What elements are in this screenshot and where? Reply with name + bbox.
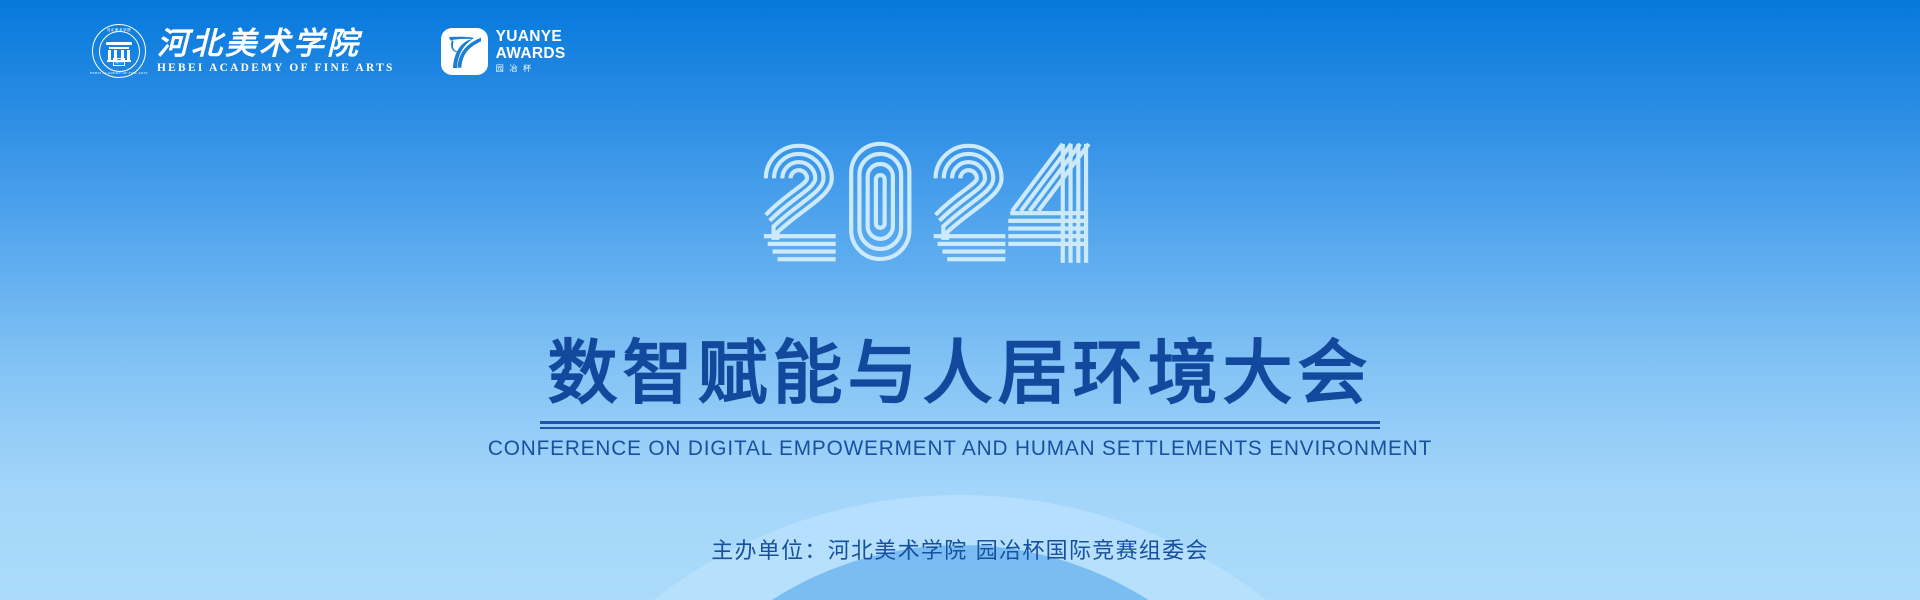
logo-yuanye-awards[interactable]: YUANYE AWARDS 园冶杯 [441,28,566,75]
seal-plate-text: 美术 [113,58,125,66]
yuanye-line2: AWARDS [496,46,566,63]
logo-row: 河北美术学院 美术 HEBEI ACADEMY OF FINE ARTS 河北美… [92,24,566,78]
yuanye-mark-icon [441,28,488,75]
organizer-text: 主办单位：河北美术学院 园冶杯国际竞赛组委会 [0,533,1920,565]
yuanye-line1: YUANYE [496,29,566,46]
yuanye-wordmark: YUANYE AWARDS 园冶杯 [496,29,566,72]
page-subtitle: CONFERENCE ON DIGITAL EMPOWERMENT AND HU… [34,436,1887,461]
year-2024-graphic [760,138,1160,273]
page-title: 数智赋能与人居环境大会 [0,338,1920,408]
divider-line-bottom [540,427,1380,429]
seal-bottom-text: HEBEI ACADEMY OF FINE ARTS [90,71,148,75]
academy-name-cn: 河北美术学院 [157,28,395,61]
conference-banner: 河北美术学院 美术 HEBEI ACADEMY OF FINE ARTS 河北美… [0,0,1920,600]
logo-hebei-academy[interactable]: 河北美术学院 美术 HEBEI ACADEMY OF FINE ARTS 河北美… [92,24,395,78]
academy-wordmark: 河北美术学院 HEBEI ACADEMY OF FINE ARTS [157,28,395,74]
academy-seal-icon: 河北美术学院 美术 HEBEI ACADEMY OF FINE ARTS [92,24,146,78]
yuanye-name-cn: 园冶杯 [496,64,566,72]
academy-name-en: HEBEI ACADEMY OF FINE ARTS [157,62,395,74]
seal-top-text: 河北美术学院 [107,28,132,33]
title-block: 数智赋能与人居环境大会 CONFERENCE ON DIGITAL EMPOWE… [0,338,1920,461]
title-divider [540,421,1380,429]
divider-line-top [540,421,1380,424]
